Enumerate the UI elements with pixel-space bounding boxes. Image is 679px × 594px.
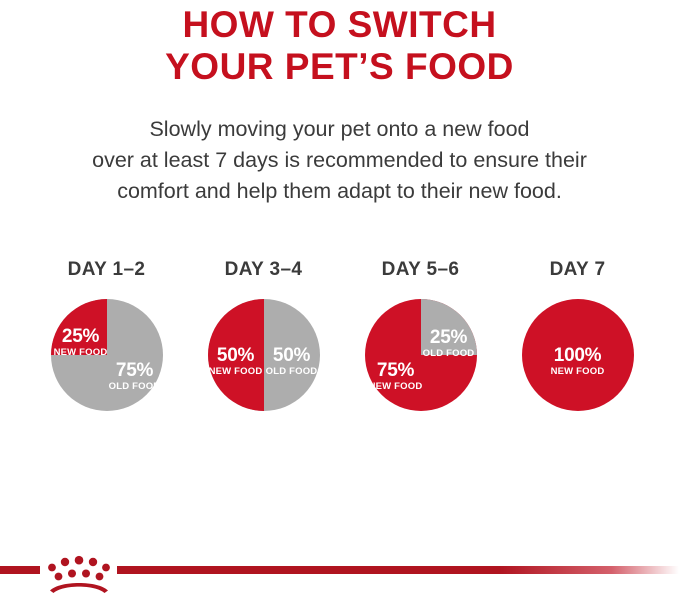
pie-slice-new-food — [522, 299, 634, 411]
pie-chart-row: DAY 1–2 25% NEW FOOD 75% OLD FOOD DAY 3–… — [28, 258, 656, 438]
intro-line-2: over at least 7 days is recommended to e… — [0, 145, 679, 176]
page-title: HOW TO SWITCH YOUR PET’S FOOD — [0, 4, 679, 88]
page-title-line-2: YOUR PET’S FOOD — [0, 46, 679, 88]
page-title-line-1: HOW TO SWITCH — [0, 4, 679, 46]
pie-chart-day-1-2: DAY 1–2 25% NEW FOOD 75% OLD FOOD — [28, 258, 185, 411]
pie-svg-day-5-6 — [365, 299, 477, 411]
pie-chart-day-5-6: DAY 5–6 25% OLD FOOD 75% NEW FOOD — [342, 258, 499, 411]
footer-rule-right — [117, 566, 679, 574]
pie-chart-day-7: DAY 7 100% NEW FOOD — [499, 258, 656, 411]
pie-chart-day-3-4: DAY 3–4 50% NEW FOOD 50% OLD FOOD — [185, 258, 342, 411]
intro-line-3: comfort and help them adapt to their new… — [0, 176, 679, 207]
pie-svg-day-1-2 — [51, 299, 163, 411]
pie-svg-day-7 — [522, 299, 634, 411]
day-label: DAY 1–2 — [68, 258, 146, 286]
pie-graphic: 100% NEW FOOD — [522, 299, 634, 411]
intro-paragraph: Slowly moving your pet onto a new food o… — [0, 114, 679, 207]
pie-graphic: 50% NEW FOOD 50% OLD FOOD — [208, 299, 320, 411]
pie-graphic: 25% NEW FOOD 75% OLD FOOD — [51, 299, 163, 411]
footer — [0, 552, 679, 594]
intro-line-1: Slowly moving your pet onto a new food — [0, 114, 679, 145]
pie-slice-old-food — [421, 299, 477, 355]
pie-graphic: 25% OLD FOOD 75% NEW FOOD — [365, 299, 477, 411]
pie-slice-new-food — [208, 299, 264, 411]
day-label: DAY 7 — [550, 258, 606, 286]
footer-rule-left — [0, 566, 40, 574]
crown-logo-icon — [42, 552, 116, 594]
pie-svg-day-3-4 — [208, 299, 320, 411]
pie-slice-new-food — [51, 299, 107, 355]
day-label: DAY 5–6 — [382, 258, 460, 286]
day-label: DAY 3–4 — [225, 258, 303, 286]
